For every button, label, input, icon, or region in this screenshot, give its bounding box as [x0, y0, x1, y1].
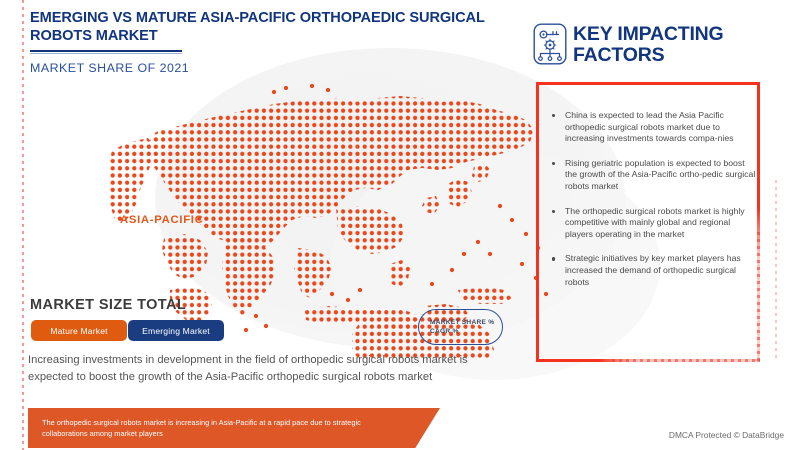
legend-pill-mature-market[interactable]: Mature Market — [31, 320, 127, 341]
right-dotted-guide — [775, 180, 777, 360]
header-block: EMERGING VS MATURE ASIA-PACIFIC ORTHOPAE… — [30, 10, 510, 75]
key-network-icon — [533, 23, 567, 65]
list-item-text: The orthopedic surgical robots market is… — [565, 206, 745, 239]
bullet-dot-icon — [552, 162, 555, 165]
highlight-banner: The orthopedic surgical robots market is… — [28, 408, 440, 448]
page-subtitle: MARKET SHARE OF 2021 — [30, 61, 510, 75]
list-item: The orthopedic surgical robots market is… — [552, 206, 758, 241]
list-item: China is expected to lead the Asia Pacif… — [552, 110, 758, 145]
key-impacting-factors-title: KEY IMPACTING FACTORS — [573, 24, 788, 66]
bullet-dot-icon — [552, 210, 555, 213]
key-factors-box-bottom-edge — [536, 359, 760, 362]
left-dotted-guide — [22, 0, 24, 450]
bullet-dot-icon — [552, 257, 555, 260]
list-item: Strategic initiatives by key market play… — [552, 253, 758, 288]
highlight-banner-text: The orthopedic surgical robots market is… — [28, 417, 440, 440]
badge-market-share-label: MARKET SHARE % — [430, 319, 502, 326]
list-item-text: Rising geriatric population is expected … — [565, 158, 755, 191]
title-underline — [30, 50, 182, 54]
badge-cagr-label: CAGR % — [430, 328, 502, 335]
description-paragraph: Increasing investments in development in… — [28, 352, 498, 386]
list-item-text: China is expected to lead the Asia Pacif… — [565, 110, 734, 143]
page-title: EMERGING VS MATURE ASIA-PACIFIC ORTHOPAE… — [30, 10, 510, 45]
legend-pill-emerging-market[interactable]: Emerging Market — [128, 320, 224, 341]
footer-copyright: DMCA Protected © DataBridge — [669, 430, 784, 440]
list-item: Rising geriatric population is expected … — [552, 158, 758, 193]
region-label: ASIA-PACIFIC — [120, 214, 204, 226]
key-factors-list: China is expected to lead the Asia Pacif… — [552, 110, 758, 301]
asia-pacific-dot-map — [60, 58, 580, 358]
list-item-text: Strategic initiatives by key market play… — [565, 253, 741, 286]
market-size-title: MARKET SIZE TOTAL — [30, 297, 186, 313]
market-share-cagr-badge: MARKET SHARE % CAGR % — [418, 309, 503, 345]
bullet-dot-icon — [552, 114, 555, 117]
infographic-page: EMERGING VS MATURE ASIA-PACIFIC ORTHOPAE… — [0, 0, 800, 450]
